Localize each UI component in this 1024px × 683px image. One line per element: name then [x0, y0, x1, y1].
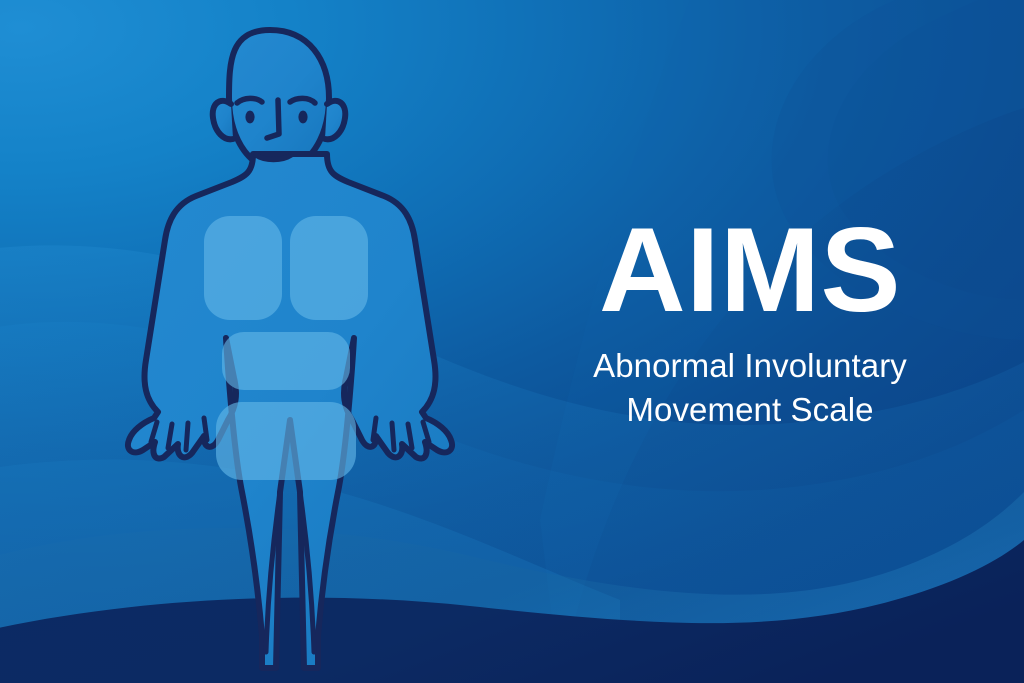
finger-line-right-4 — [373, 418, 376, 440]
finger-line-right-3 — [392, 423, 394, 450]
subtitle-line-2: Movement Scale — [524, 388, 976, 432]
abdomen-band-upper-shape — [222, 332, 350, 390]
ear-right-shape — [325, 101, 345, 139]
page-subtitle: Abnormal Involuntary Movement Scale — [524, 344, 976, 432]
eye-right-shape — [298, 111, 307, 124]
chest-muscle-left-shape — [204, 216, 282, 320]
subtitle-line-1: Abnormal Involuntary — [524, 344, 976, 388]
poster-canvas: AIMS Abnormal Involuntary Movement Scale — [0, 0, 1024, 683]
chest-muscle-right-shape — [290, 216, 368, 320]
abdomen-band-lower-shape — [216, 402, 356, 480]
finger-line-left-4 — [204, 418, 207, 440]
finger-line-left-3 — [186, 423, 188, 450]
title-block: AIMS Abnormal Involuntary Movement Scale — [524, 214, 976, 432]
eye-left-shape — [245, 111, 254, 124]
page-title: AIMS — [524, 214, 976, 326]
human-figure-illustration — [110, 22, 480, 683]
ear-left-shape — [213, 101, 233, 139]
